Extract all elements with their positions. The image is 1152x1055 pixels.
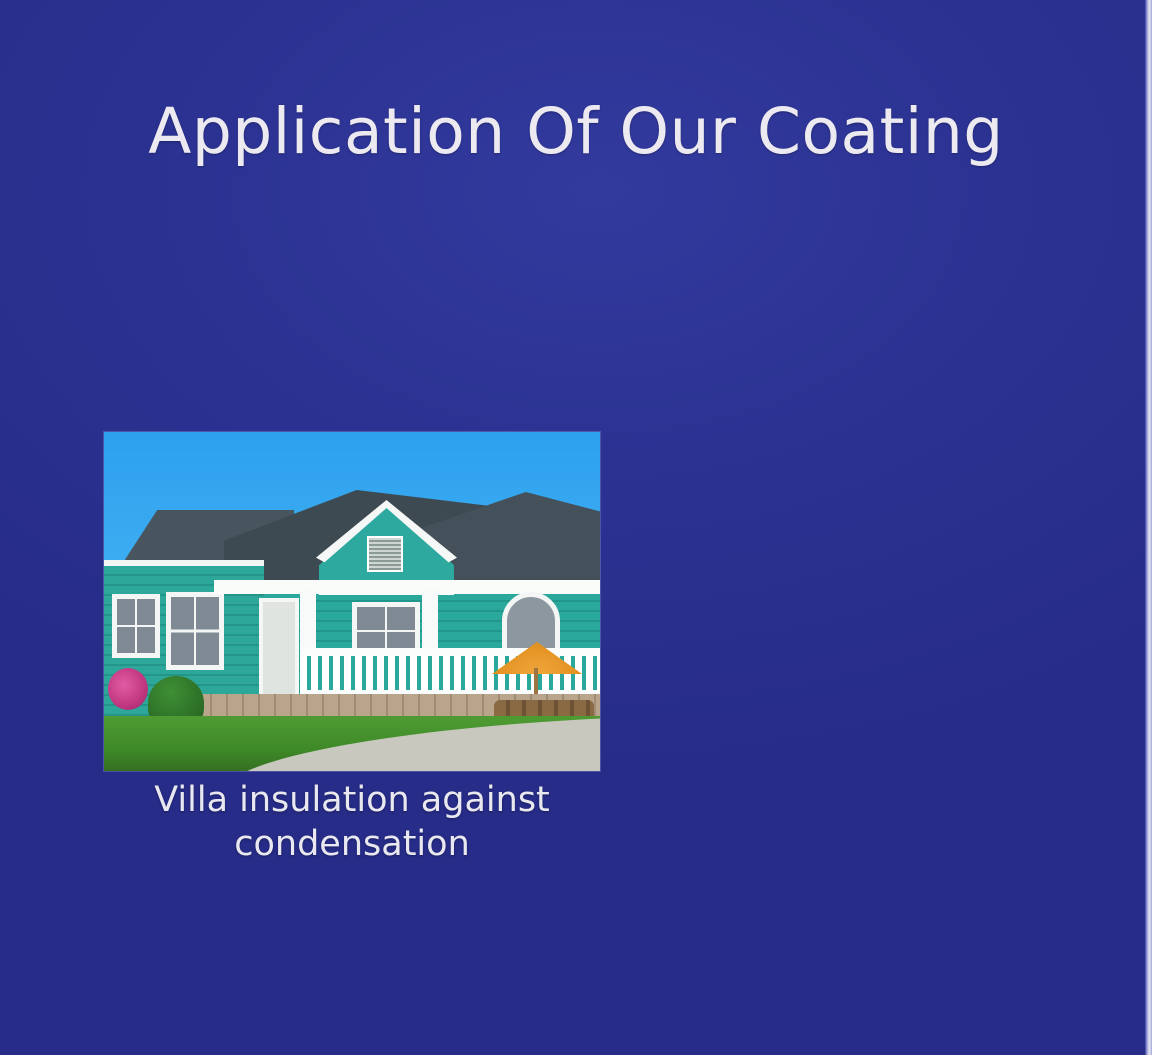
slide-application-of-our-coating: Application Of Our Coating — [0, 0, 1152, 1055]
window — [166, 592, 224, 670]
caption-villa: Villa insulation against condensation — [92, 778, 612, 866]
application-grid: Villa insulation against condensation — [0, 0, 1152, 1055]
caption-line-2: condensation — [92, 822, 612, 866]
photo-villa-teal-house[interactable] — [104, 432, 600, 771]
porch-roof — [214, 580, 600, 594]
railing-top — [300, 648, 600, 656]
flower-bush — [108, 668, 148, 710]
caption-line-1: Villa insulation against — [92, 778, 612, 822]
gable-vent — [367, 536, 403, 572]
front-door — [259, 598, 299, 708]
right-edge-strip — [1145, 0, 1152, 1055]
window — [112, 594, 160, 658]
